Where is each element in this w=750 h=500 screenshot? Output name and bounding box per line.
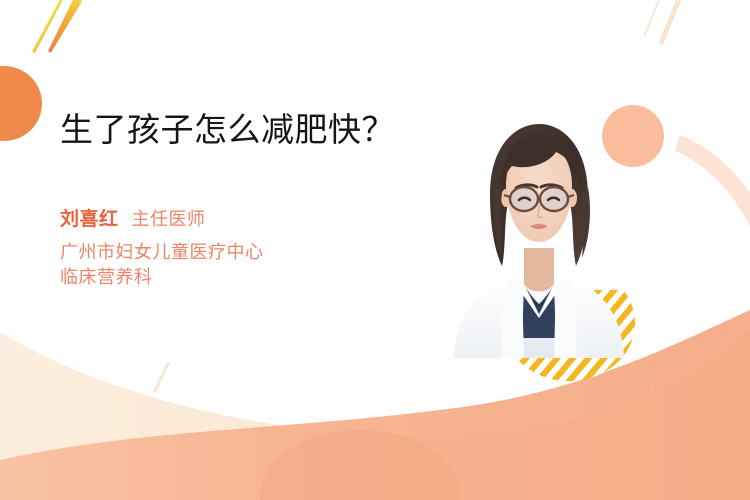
orange-diagonal-stroke-decoration [46, 0, 83, 54]
yellow-diagonal-stroke-decoration [32, 0, 62, 53]
health-article-cover-card: 生了孩子怎么减肥快？ 刘喜红 主任医师 广州市妇女儿童医疗中心 临床营养科 [0, 0, 750, 500]
page-title: 生了孩子怎么减肥快？ [60, 110, 420, 150]
cream-diagonal-stroke-decoration-bottom-left [153, 361, 170, 393]
text-block: 生了孩子怎么减肥快？ 刘喜红 主任医师 广州市妇女儿童医疗中心 临床营养科 [60, 110, 420, 290]
bottom-wave-decoration [0, 310, 750, 500]
doctor-title: 主任医师 [132, 205, 206, 231]
doctor-affiliation: 广州市妇女儿童医疗中心 临床营养科 [60, 240, 420, 290]
doctor-name: 刘喜红 [60, 204, 119, 231]
doctor-name-row: 刘喜红 主任医师 [60, 204, 420, 231]
cream-diagonal-stroke-decoration-top-right-thin [643, 0, 662, 37]
orange-circle-decoration [0, 66, 42, 141]
doctor-credits: 刘喜红 主任医师 广州市妇女儿童医疗中心 临床营养科 [60, 204, 420, 290]
doctor-hospital: 广州市妇女儿童医疗中心 [60, 240, 420, 265]
cream-diagonal-stroke-decoration-top-right-thick [658, 0, 682, 45]
doctor-department: 临床营养科 [60, 265, 420, 290]
doctor-portrait [444, 108, 634, 358]
